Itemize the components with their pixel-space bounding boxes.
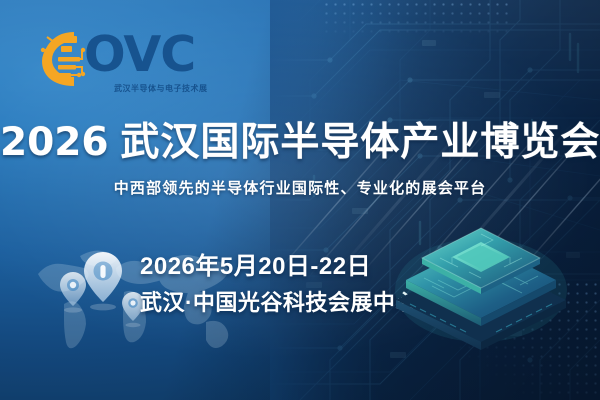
map-pin-large-center — [84, 252, 122, 310]
page-title: 2026 武汉国际半导体产业博览会 — [0, 118, 600, 168]
title-year: 2026 — [0, 120, 109, 165]
map-pin-group — [58, 246, 150, 338]
event-info-block: 2026年5月20日-22日 武汉·中国光谷科技会展中心 — [140, 250, 410, 318]
title-text: 武汉国际半导体产业博览会 — [120, 121, 600, 164]
ovc-circuit-mark-icon — [40, 28, 88, 86]
ovc-logo[interactable]: OVC 武汉半导体与电子技术展 — [40, 26, 200, 98]
ovc-logo-subtitle: 武汉半导体与电子技术展 — [114, 83, 208, 94]
event-venue: 武汉·中国光谷科技会展中心 — [140, 287, 410, 318]
page-subtitle: 中西部领先的半导体行业国际性、专业化的展会平台 — [0, 178, 600, 200]
isometric-semiconductor-chip — [388, 214, 574, 354]
event-date: 2026年5月20日-22日 — [140, 250, 410, 283]
ovc-wordmark: OVC — [84, 26, 195, 84]
headline-block: 2026 武汉国际半导体产业博览会 中西部领先的半导体行业国际性、专业化的展会平… — [0, 118, 600, 200]
exhibition-banner: OVC 武汉半导体与电子技术展 2026 武汉国际半导体产业博览会 中西部领先的… — [0, 0, 600, 400]
map-pin-small-left — [60, 272, 86, 313]
